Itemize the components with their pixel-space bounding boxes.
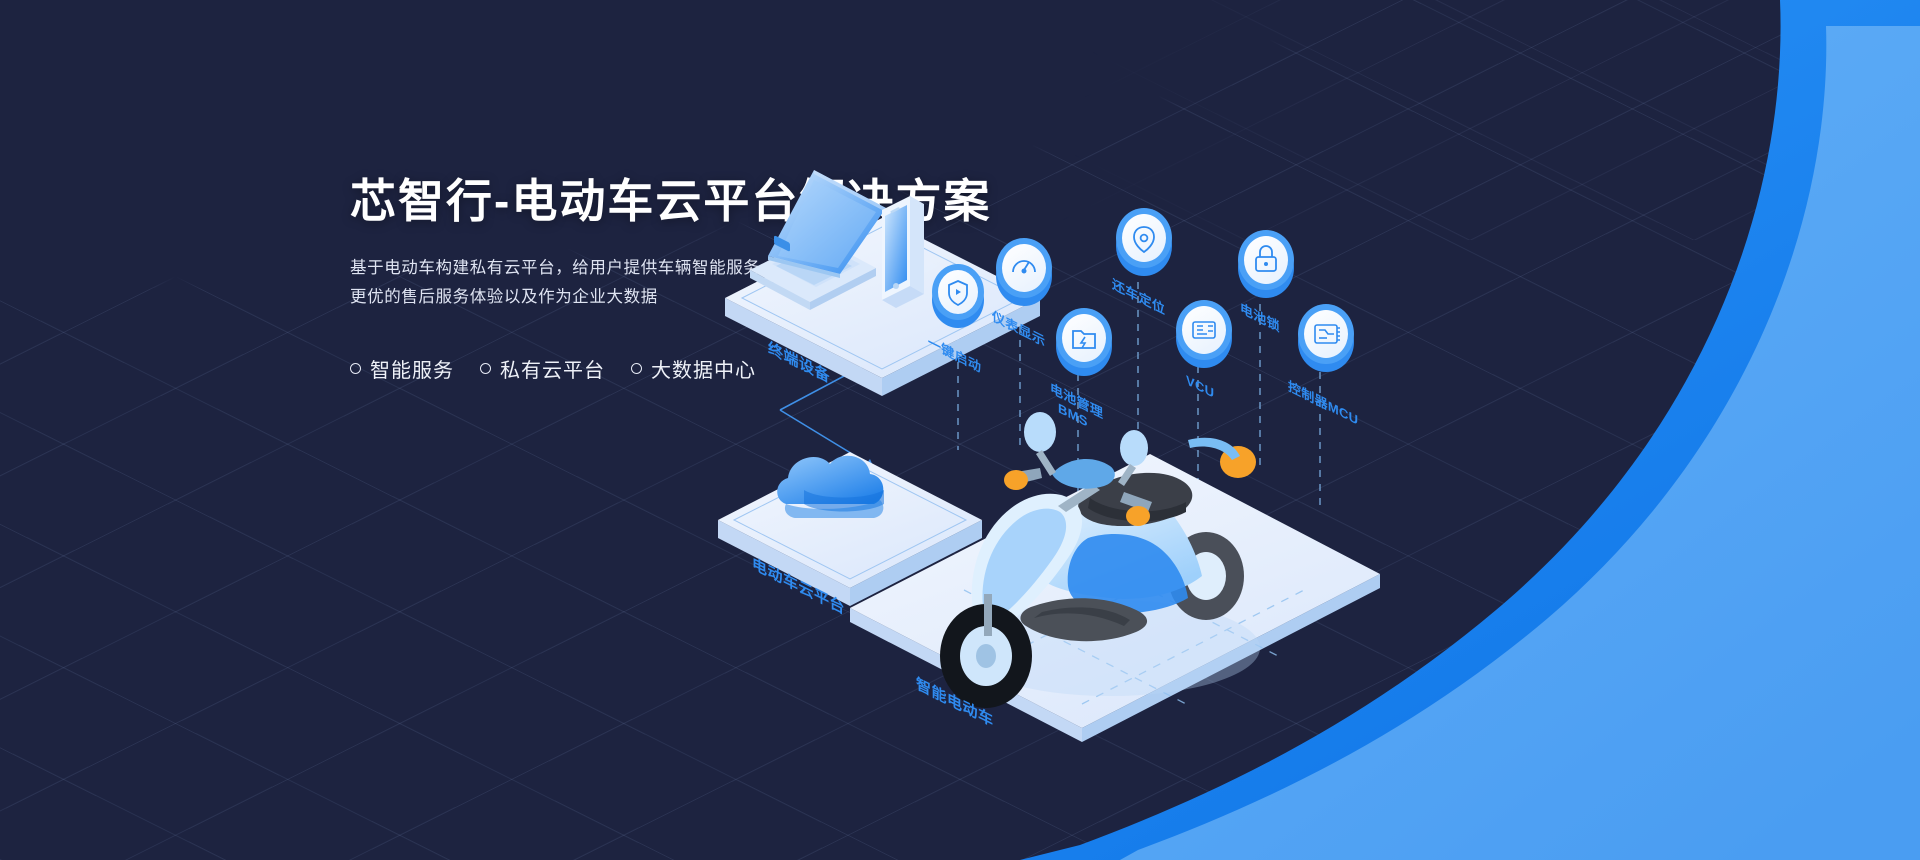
bullet-label: 私有云平台 xyxy=(500,354,605,383)
scooter-icon xyxy=(940,412,1260,708)
feature-badge-mcu[interactable]: 控制器MCU xyxy=(1288,304,1358,428)
platform-vehicle: 智能电动车 xyxy=(850,412,1380,742)
list-item: 私有云平台 xyxy=(480,354,605,383)
list-item: 大数据中心 xyxy=(631,354,756,383)
circle-outline-icon xyxy=(480,363,491,374)
bullet-label: 大数据中心 xyxy=(651,354,756,383)
list-item: 智能服务 xyxy=(350,354,454,383)
feature-badge-location[interactable]: 还车定位 xyxy=(1111,208,1172,317)
bullet-label: 智能服务 xyxy=(370,354,454,383)
isometric-illustration: 终端设备 电动车云平台 xyxy=(820,120,1920,860)
feature-badge-vcu[interactable]: VCU xyxy=(1176,300,1232,401)
circle-outline-icon xyxy=(350,363,361,374)
hero-banner: 芯智行-电动车云平台解决方案 基于电动车构建私有云平台，给用户提供车辆智能服务 … xyxy=(0,0,1920,860)
badge-label: 控制器MCU xyxy=(1288,378,1358,428)
feature-badge-bms[interactable]: 电池管理 BMS xyxy=(1050,308,1112,430)
feature-badge-lock[interactable]: 电池锁 xyxy=(1238,230,1294,335)
badge-label: VCU xyxy=(1186,373,1214,401)
circle-outline-icon xyxy=(631,363,642,374)
